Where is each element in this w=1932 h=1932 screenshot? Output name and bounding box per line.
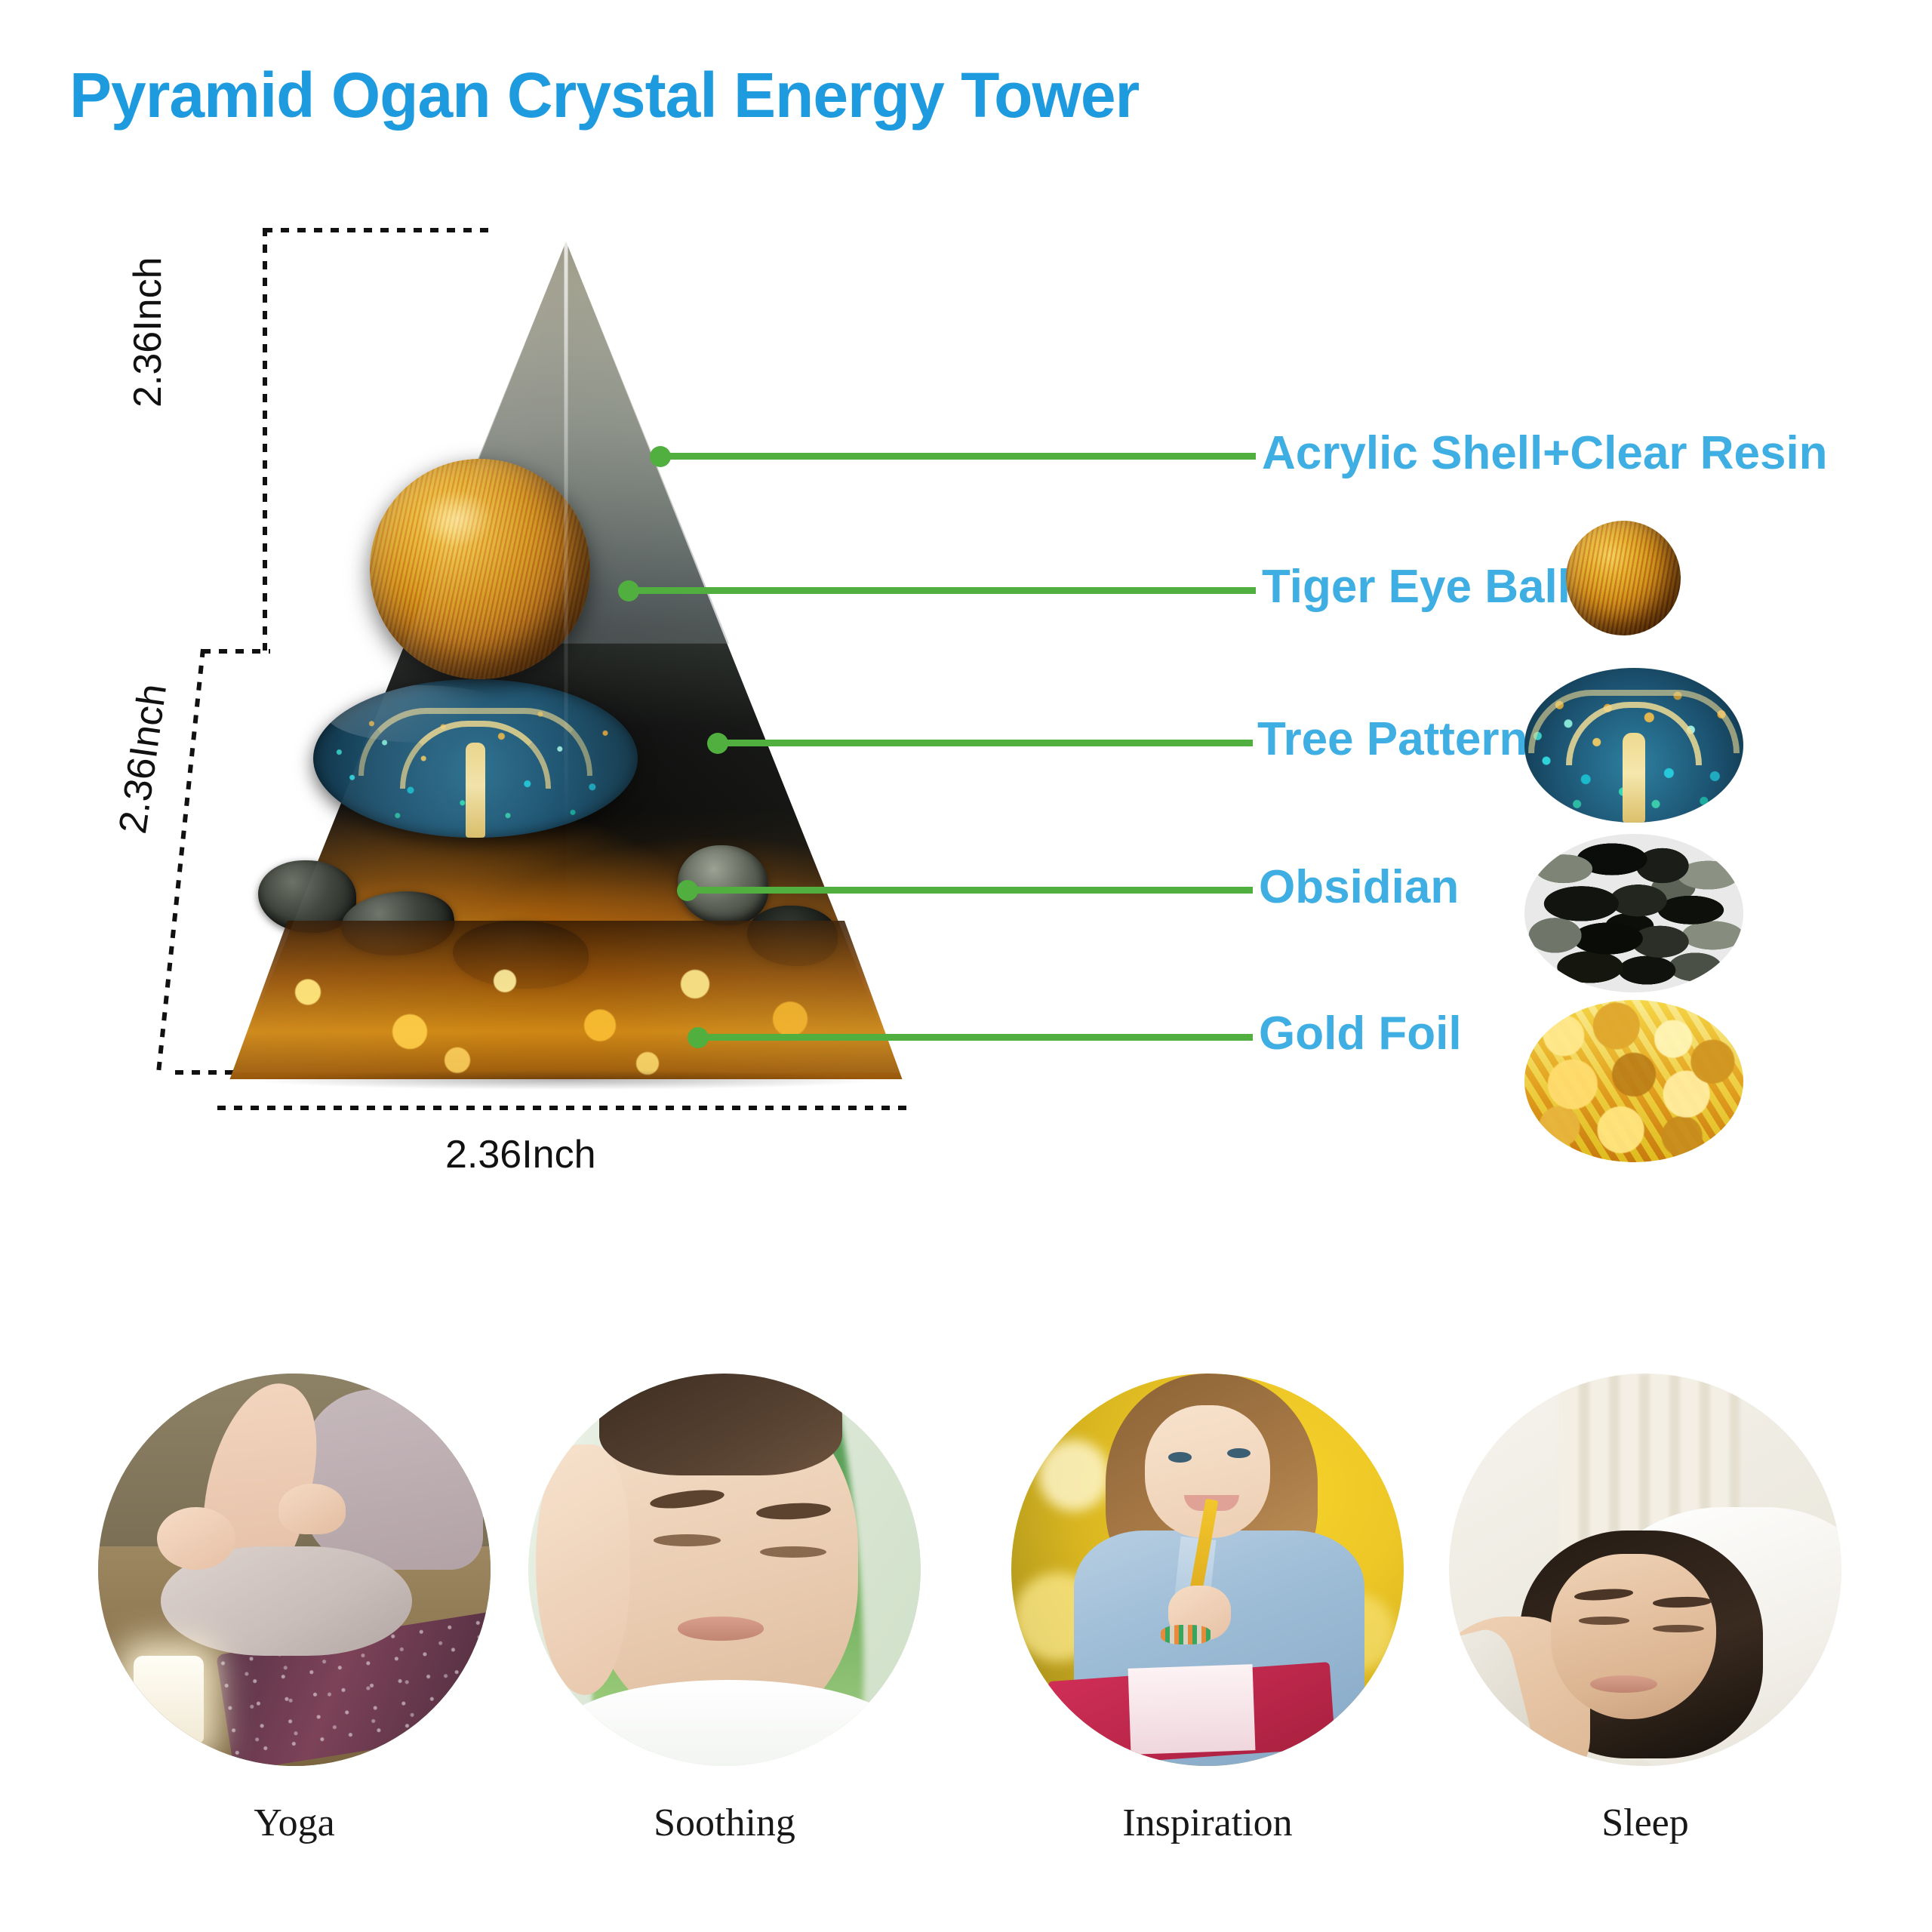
scene-torso [302,1389,482,1570]
gold-foil-region [226,921,906,1079]
dimension-guide-width-line [217,1106,912,1110]
callout-stroke [687,887,1253,894]
dimension-label-width: 2.36Inch [445,1132,596,1177]
swatch-gold-foil [1524,1000,1743,1162]
lifestyle-caption-soothing: Soothing [498,1801,951,1845]
product-diagram-section: 2.36Inch 2.36Inch 2.36Inch [0,189,1207,1207]
scene-foot [278,1484,345,1535]
dimension-label-height: 2.36Inch [125,257,171,408]
dimension-label-side: 2.36Inch [110,681,176,836]
callout-label-acrylic-shell: Acrylic Shell+Clear Resin [1262,426,1828,480]
lifestyle-photo-sleep [1449,1374,1841,1766]
lifestyle-section: Yoga Soothing [0,1374,1932,1902]
callout-label-gold-foil: Gold Foil [1259,1007,1462,1060]
scene-hand [536,1444,630,1696]
scene-lips [1590,1675,1657,1693]
swatch-tiger-eye-ball [1566,521,1681,635]
swatch-tree-pattern [1524,668,1743,823]
callout-label-tiger-eye-ball: Tiger Eye Ball [1262,560,1571,614]
scene-hair [599,1374,842,1475]
swatch-tree-trunk [1623,733,1645,823]
lifestyle-item-yoga: Yoga [68,1374,521,1845]
lifestyle-item-sleep: Sleep [1419,1374,1872,1845]
product-drop-shadow [257,1070,875,1090]
product-image-pyramid [226,241,906,1079]
callout-label-obsidian: Obsidian [1259,860,1459,914]
swatch-obsidian [1524,834,1743,992]
callout-stroke [628,587,1256,594]
infographic-page: Pyramid Ogan Crystal Energy Tower 2.36In… [0,0,1932,1932]
lifestyle-item-soothing: Soothing [498,1374,951,1845]
lifestyle-caption-sleep: Sleep [1419,1801,1872,1845]
callout-stroke [697,1034,1253,1041]
callout-label-tree-pattern: Tree Pattern [1257,712,1527,766]
scene-closed-eye [654,1534,720,1546]
tree-pattern-disc [313,679,638,838]
scene-closed-eye [1579,1617,1630,1624]
tree-trunk [466,743,485,838]
lifestyle-caption-yoga: Yoga [68,1801,521,1845]
callout-stroke [660,453,1256,460]
tiger-eye-ball [370,459,590,679]
scene-bracelet [1161,1625,1212,1644]
lifestyle-photo-soothing [528,1374,921,1766]
dimension-guide-top-tick [264,228,491,232]
callout-stroke [717,740,1253,746]
lifestyle-photo-inspiration [1011,1374,1404,1766]
lifestyle-photo-yoga [98,1374,491,1766]
scene-closed-eye [1653,1625,1704,1632]
scene-eye [1168,1452,1192,1463]
lifestyle-item-inspiration: Inspiration [981,1374,1434,1845]
scene-hand-mudra [157,1507,235,1570]
lifestyle-caption-inspiration: Inspiration [981,1801,1434,1845]
scene-candle [134,1656,205,1742]
disc-gloss-highlight [326,685,514,743]
page-title: Pyramid Ogan Crystal Energy Tower [69,59,1139,132]
scene-lips [678,1617,764,1640]
swatch-obsidian-chips [1524,834,1743,992]
